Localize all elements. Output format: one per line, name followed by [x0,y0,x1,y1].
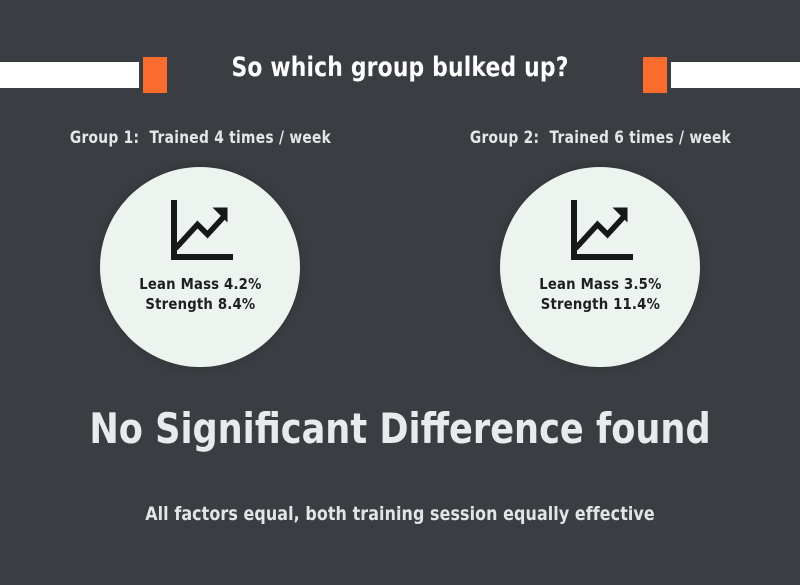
group-circle-2: Lean Mass 3.5% Strength 11.4% [500,167,700,367]
stat-strength-1: Strength 8.4% [139,294,261,314]
group-stats-1: Lean Mass 4.2% Strength 8.4% [139,274,261,315]
conclusion-headline: No Significant Difference found [28,404,772,453]
group-stats-2: Lean Mass 3.5% Strength 11.4% [539,274,661,315]
group-circle-1: Lean Mass 4.2% Strength 8.4% [100,167,300,367]
header-band: So which group bulked up? [0,0,800,118]
header-square-right-orange [643,57,667,93]
stat-strength-2: Strength 11.4% [539,294,661,314]
line-chart-up-icon [167,200,233,260]
group-label-2: Group 2: Trained 6 times / week [469,128,730,147]
group-label-1: Group 1: Trained 4 times / week [69,128,330,147]
header-bar-right-white [671,62,800,88]
line-chart-up-icon [567,200,633,260]
stat-lean-mass-2: Lean Mass 3.5% [539,274,661,294]
groups-row: Group 1: Trained 4 times / week Lean Mas… [0,128,800,367]
stat-lean-mass-1: Lean Mass 4.2% [139,274,261,294]
group-column-1: Group 1: Trained 4 times / week Lean Mas… [0,128,400,367]
conclusion-footnote: All factors equal, both training session… [28,503,772,525]
group-column-2: Group 2: Trained 6 times / week Lean Mas… [400,128,800,367]
infographic-slide: { "theme": { "background": "#3a3e42", "a… [0,0,800,585]
